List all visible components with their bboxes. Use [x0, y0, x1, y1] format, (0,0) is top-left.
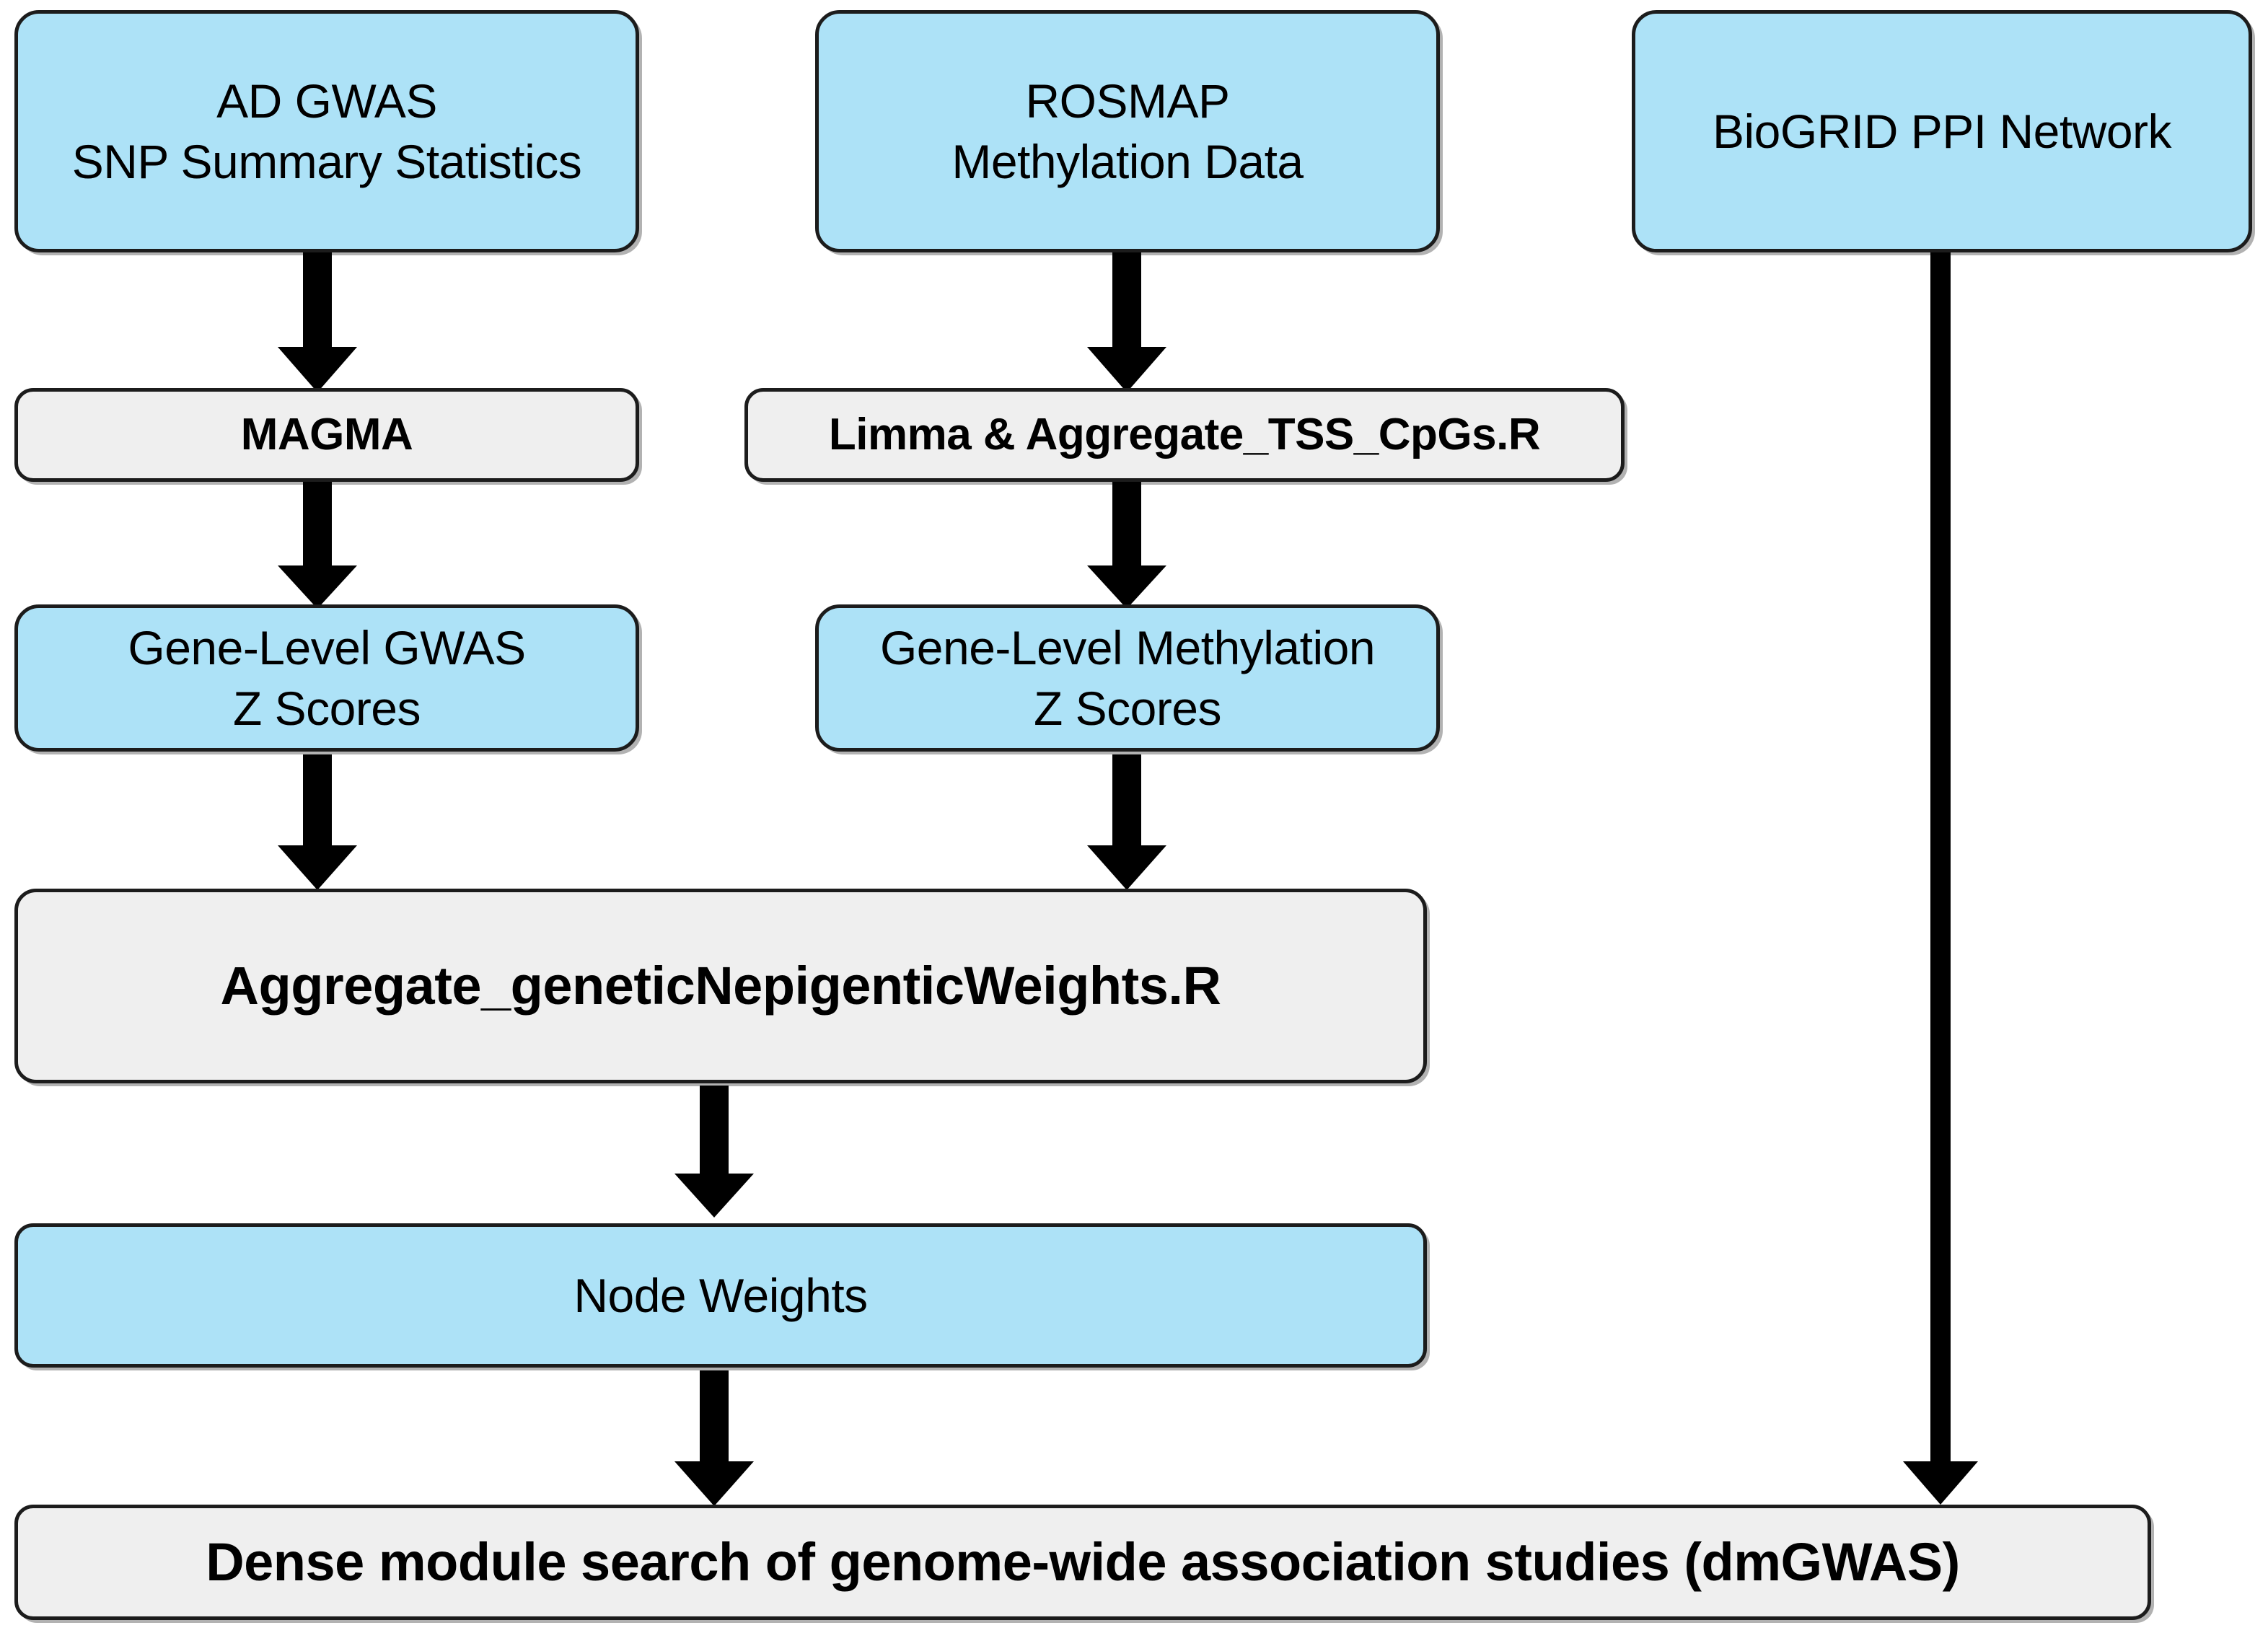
node-ad-gwas[interactable]: AD GWAS SNP Summary Statistics: [14, 10, 639, 252]
arrow-aggregate-to-node-weights: [671, 1086, 757, 1219]
node-ad-gwas-line-1: AD GWAS: [216, 71, 437, 131]
arrow-limma-to-methylation-z: [1084, 480, 1170, 610]
node-aggregate-weights[interactable]: Aggregate_geneticNepigenticWeights.R: [14, 889, 1427, 1083]
node-node-weights[interactable]: Node Weights: [14, 1223, 1427, 1368]
node-biogrid-line-1: BioGRID PPI Network: [1713, 101, 2171, 162]
node-biogrid-ppi[interactable]: BioGRID PPI Network: [1632, 10, 2252, 252]
arrow-ad-gwas-to-magma: [274, 250, 361, 394]
arrow-methylation-z-to-aggregate: [1084, 754, 1170, 892]
workflow-diagram: AD GWAS SNP Summary Statistics ROSMAP Me…: [0, 0, 2268, 1633]
node-magma-label: MAGMA: [241, 406, 413, 463]
arrow-biogrid-to-dmgwas: [1897, 250, 1984, 1507]
node-dmgwas-label: Dense module search of genome-wide assoc…: [206, 1528, 1960, 1597]
node-dmgwas[interactable]: Dense module search of genome-wide assoc…: [14, 1505, 2151, 1620]
node-gwas-z-line-2: Z Scores: [233, 678, 421, 739]
arrow-magma-to-gwas-z: [274, 480, 361, 610]
node-magma[interactable]: MAGMA: [14, 388, 639, 482]
arrow-rosmap-to-limma: [1084, 250, 1170, 394]
node-rosmap-methylation[interactable]: ROSMAP Methylation Data: [815, 10, 1440, 252]
arrow-gwas-z-to-aggregate: [274, 754, 361, 892]
node-aggregate-weights-label: Aggregate_geneticNepigenticWeights.R: [221, 952, 1221, 1021]
node-limma-aggregate-tss[interactable]: Limma & Aggregate_TSS_CpGs.R: [744, 388, 1625, 482]
node-rosmap-line-2: Methylation Data: [951, 131, 1303, 192]
node-methylation-z-line-2: Z Scores: [1034, 678, 1221, 739]
node-gene-level-gwas-z[interactable]: Gene-Level GWAS Z Scores: [14, 604, 639, 752]
node-node-weights-label: Node Weights: [573, 1265, 867, 1326]
node-limma-label: Limma & Aggregate_TSS_CpGs.R: [829, 406, 1540, 463]
node-rosmap-line-1: ROSMAP: [1025, 71, 1229, 131]
node-gene-level-methylation-z[interactable]: Gene-Level Methylation Z Scores: [815, 604, 1440, 752]
node-gwas-z-line-1: Gene-Level GWAS: [128, 617, 525, 678]
node-ad-gwas-line-2: SNP Summary Statistics: [72, 131, 582, 192]
arrow-node-weights-to-dmgwas: [671, 1370, 757, 1507]
node-methylation-z-line-1: Gene-Level Methylation: [880, 617, 1375, 678]
